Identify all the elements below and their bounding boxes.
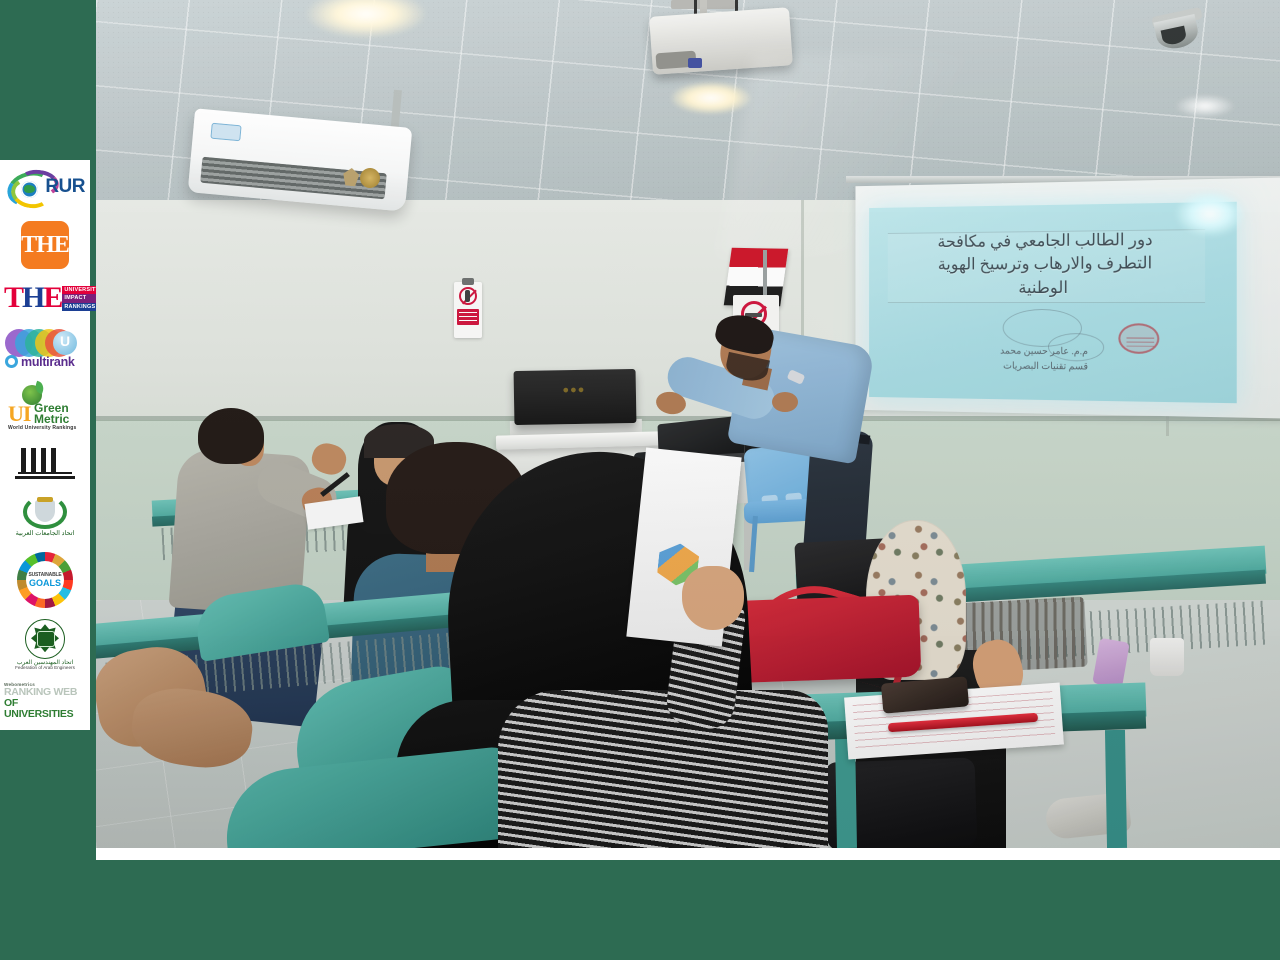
the-badge-icon: THE bbox=[21, 221, 69, 269]
podium-box: ●●● bbox=[514, 369, 637, 425]
accreditation-logo-strip: RUR THE THE UNIVERSITY IMPACT RANKINGS bbox=[0, 160, 90, 730]
federation-arab-engineers-logo: اتحاد المهندسين العرب Federation of Arab… bbox=[3, 619, 87, 671]
columns-institution-logo bbox=[3, 444, 87, 484]
the-label: THE bbox=[21, 232, 69, 259]
red-handbag bbox=[723, 595, 922, 684]
ui-greenmetric-logo: UI Green Metric World University Ranking… bbox=[3, 385, 87, 433]
fae-star-icon bbox=[31, 624, 59, 652]
the-logo: THE bbox=[3, 221, 87, 269]
sdg-logo: SUSTAINABLE GOALS bbox=[3, 552, 87, 608]
sdg-wheel-icon: SUSTAINABLE GOALS bbox=[17, 552, 73, 608]
sdg-main-label: GOALS bbox=[29, 578, 61, 588]
ui-label: UI bbox=[8, 401, 30, 427]
paper-tray bbox=[607, 421, 651, 450]
sidebar: RUR THE THE UNIVERSITY IMPACT RANKINGS bbox=[0, 0, 96, 960]
projector-plug bbox=[688, 58, 702, 68]
slide-author: م.م. عامر حسين محمد قسم تقنيات البصريات bbox=[893, 344, 1088, 376]
rur-label: RUR bbox=[45, 176, 85, 198]
ceiling-light bbox=[1176, 95, 1234, 117]
the-impact-label: THE bbox=[4, 283, 61, 313]
greenmetric-sub: World University Rankings bbox=[8, 425, 77, 431]
slide-title: دور الطالب الجامعي في مكافحة التطرف والا… bbox=[890, 227, 1205, 299]
desk-leg bbox=[1105, 730, 1127, 848]
fae-english-label: Federation of Arab Engineers bbox=[10, 665, 80, 670]
projector-hotspot bbox=[1176, 192, 1244, 236]
multirank-logo: multirank bbox=[3, 327, 87, 373]
wreath-crest-icon: اتحاد الجامعات العربية bbox=[9, 495, 81, 541]
webometrics-logo: Webometrics RANKING WEB OF UNIVERSITIES bbox=[3, 682, 87, 720]
association-arab-universities-logo: اتحاد الجامعات العربية bbox=[3, 495, 87, 541]
podium-ornament: ●●● bbox=[522, 383, 626, 407]
ceiling-light bbox=[671, 82, 751, 114]
the-impact-rankings-logo: THE UNIVERSITY IMPACT RANKINGS bbox=[3, 280, 87, 316]
ac-brand-badge bbox=[210, 123, 241, 142]
multirank-label: multirank bbox=[21, 355, 75, 369]
multirank-u-icon bbox=[53, 331, 77, 355]
projected-slide: دور الطالب الجامعي في مكافحة التطرف والا… bbox=[869, 202, 1237, 403]
globe-icon bbox=[21, 181, 38, 198]
prohibition-sign bbox=[454, 282, 482, 338]
student-striped-sleeve-body bbox=[498, 690, 828, 848]
aau-arabic-label: اتحاد الجامعات العربية bbox=[15, 529, 75, 537]
student-hair bbox=[198, 408, 264, 464]
footer-bar: WWW WWW.UOMUS.EDU.IQ 6163 الأولـــى على … bbox=[0, 860, 1280, 960]
student-hand bbox=[682, 566, 744, 630]
slide-seal-icon bbox=[1118, 323, 1159, 354]
rur-logo: RUR bbox=[3, 168, 87, 210]
webometrics-line-3: OF UNIVERSITIES bbox=[4, 698, 86, 720]
paper-cup bbox=[1150, 638, 1184, 676]
presenter-hand bbox=[772, 392, 798, 412]
metric-label: Metric bbox=[34, 412, 69, 426]
page-root: RUR THE THE UNIVERSITY IMPACT RANKINGS bbox=[0, 0, 1280, 960]
classical-columns-icon bbox=[15, 444, 75, 484]
classroom-lecture-photo: الامتحان معادلة دور الطالب الجامعي في مك… bbox=[96, 0, 1280, 848]
multirank-ring-icon bbox=[5, 355, 18, 368]
